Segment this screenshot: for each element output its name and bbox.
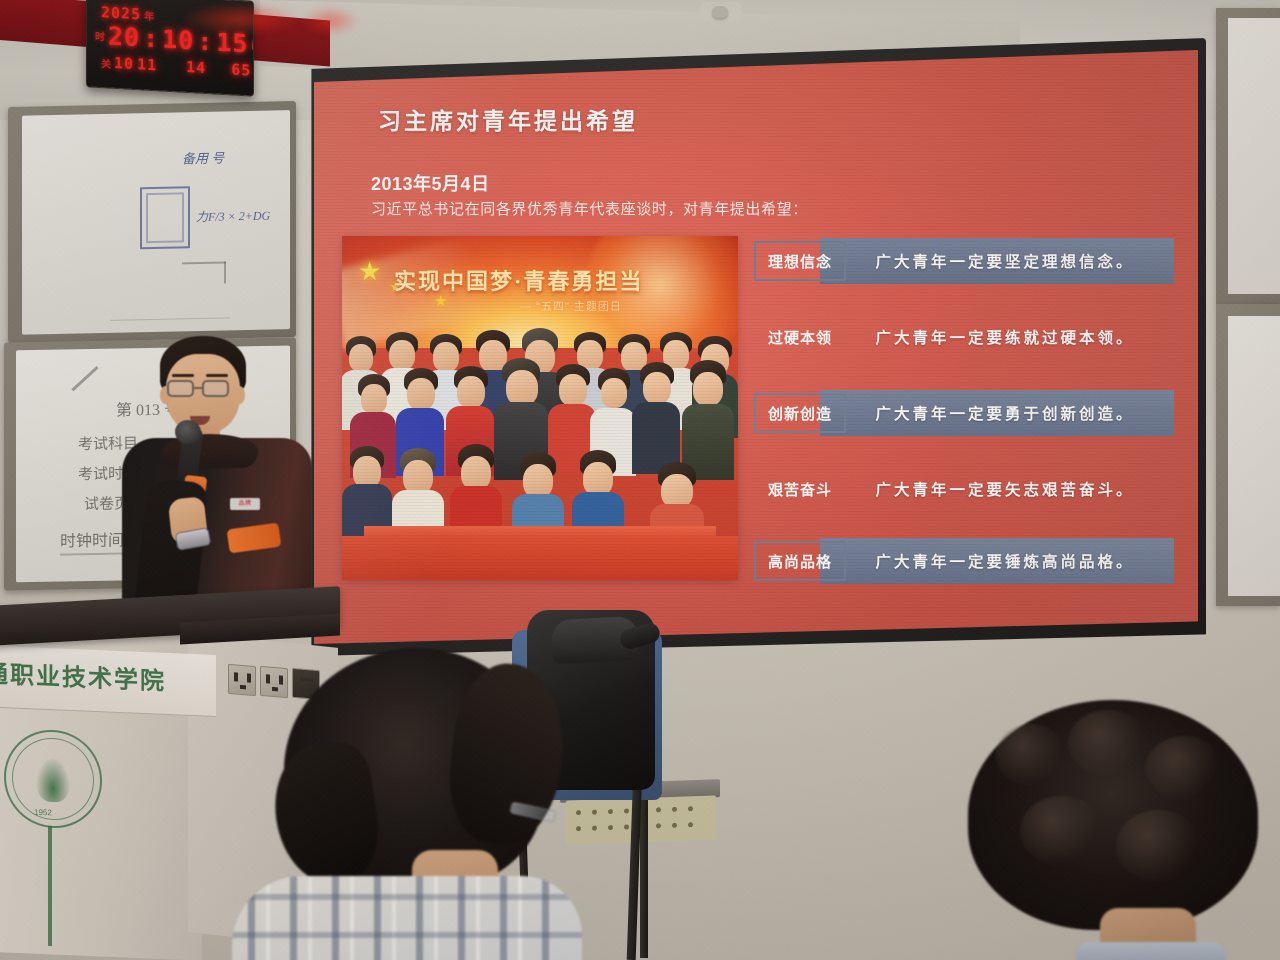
clock-hour: 20 [108, 22, 140, 53]
presenter-glasses-bridge [193, 387, 202, 389]
whiteboard-upper-frame: 备用 号 力F/3 × 2+DG [8, 101, 296, 343]
clock-glow-reflection-2 [300, 6, 360, 36]
student-foreground-right [950, 700, 1280, 960]
presenter-brow-left [172, 374, 194, 377]
presenter: 品牌 [118, 330, 318, 620]
slide-title: 习主席对青年提出希望 [378, 102, 638, 136]
classroom-scene: 备用 号 力F/3 × 2+DG 第 013 号 考试科目 考试时间 试卷页 时… [0, 0, 1280, 960]
presenter-chest-logo: 品牌 [230, 498, 260, 510]
clock-row3-c: 14 [186, 58, 206, 77]
list-item-tag: 过硬本领 [754, 317, 846, 357]
whiteboard-slash [71, 366, 98, 391]
clock-row3-a: 10 [114, 54, 134, 73]
presenter-hood [162, 434, 258, 468]
clock-year: 2025 [101, 3, 141, 23]
whiteboard-diagram-inner [146, 192, 184, 243]
student-right-curl-2 [1068, 710, 1148, 776]
student-right-collar [1076, 942, 1226, 960]
photo-star-icon-1: ★ [358, 256, 381, 287]
clock-row3-d: 65 [231, 60, 251, 79]
slide-subtitle: 习近平总书记在同各界优秀青年代表座谈时，对青年提出希望： [371, 198, 808, 219]
whiteboard-formula: 力F/3 × 2+DG [196, 207, 270, 226]
clock-glow-reflection-1 [180, 2, 300, 36]
list-item-tag: 理想信念 [754, 241, 846, 281]
list-item: 广大青年一定要练就过硬本领。 过硬本领 [754, 314, 1174, 360]
clock-right-label: 间 [251, 37, 254, 53]
photo-banner-main: 实现中国梦·青春勇担当 [394, 264, 643, 296]
presenter-glasses-left [167, 380, 194, 397]
podium-institution-name: 通职业技术学院 [0, 654, 184, 697]
whiteboard-stroke-1 [182, 261, 226, 264]
list-item: 广大青年一定要锤炼高尚品格。 高尚品格 [754, 538, 1174, 584]
photo-crowd [342, 332, 738, 542]
clock-year-unit: 年 [144, 7, 154, 23]
right-whiteboard-surface-bottom [1228, 316, 1280, 596]
led-presentation-screen[interactable]: 习主席对青年提出希望 2013年5月4日 习近平总书记在同各界优秀青年代表座谈时… [314, 50, 1198, 644]
college-seal-year: 1952 [34, 808, 52, 818]
slide-point-list: 广大青年一定要坚定理想信念。 理想信念 广大青年一定要练就过硬本领。 过硬本领 … [754, 238, 1174, 584]
student-right-curl-1 [996, 724, 1066, 786]
list-item-text: 广大青年一定要勇于创新创造。 [836, 390, 1174, 436]
whiteboard-stroke-2 [224, 261, 226, 283]
presenter-logo-text: 品牌 [230, 498, 260, 510]
whiteboard-upper-surface: 备用 号 力F/3 × 2+DG [22, 110, 290, 335]
clock-hour-label: 时 [95, 28, 105, 44]
slide-photo-collage: ★ ★ ★ 实现中国梦·青春勇担当 — "五四" 主题团日 [342, 236, 738, 580]
list-item-tag: 高尚品格 [754, 541, 846, 581]
photo-stage-front [342, 536, 738, 580]
student-right-curl-4 [1020, 796, 1102, 866]
whiteboard-line-5: 时钟时间 [60, 526, 124, 551]
student-foreground-left [262, 640, 592, 960]
list-item-text: 广大青年一定要矢志艰苦奋斗。 [836, 466, 1174, 512]
presenter-ear-right [234, 386, 245, 404]
ceiling-camera-icon [712, 6, 728, 18]
clock-row3-b: 11 [137, 55, 157, 74]
photo-banner-sub: — "五四" 主题团日 [520, 298, 622, 314]
slide-date: 2013年5月4日 [371, 170, 490, 196]
whiteboard-stroke-3 [110, 317, 230, 321]
slide-canvas: 习主席对青年提出希望 2013年5月4日 习近平总书记在同各界优秀青年代表座谈时… [314, 50, 1198, 644]
whiteboard-note-top: 备用 号 [182, 147, 224, 167]
clock-colon-1: : [143, 23, 159, 53]
power-outlet-1[interactable] [228, 664, 256, 696]
desk-leg-right [640, 800, 648, 958]
list-item: 广大青年一定要勇于创新创造。 创新创造 [754, 390, 1174, 436]
student-left-plaid-shirt [232, 876, 582, 960]
clock-row3-label: 关 [101, 55, 111, 71]
presenter-brow-right [206, 374, 228, 377]
plaid-vertical-lines [232, 876, 582, 960]
list-item-tag: 艰苦奋斗 [754, 469, 846, 509]
list-item-tag: 创新创造 [754, 393, 846, 433]
list-item-text: 广大青年一定要练就过硬本领。 [836, 314, 1174, 360]
student-right-curl-3 [1146, 736, 1222, 800]
list-item-text: 广大青年一定要坚定理想信念。 [836, 238, 1174, 284]
list-item-text: 广大青年一定要锤炼高尚品格。 [836, 538, 1174, 584]
list-item: 广大青年一定要坚定理想信念。 理想信念 [754, 238, 1174, 284]
list-item: 广大青年一定要矢志艰苦奋斗。 艰苦奋斗 [754, 466, 1174, 512]
podium-green-stem [48, 826, 52, 946]
presenter-glasses-right [202, 380, 229, 397]
right-whiteboard-surface-top [1228, 18, 1280, 294]
student-right-curl-5 [1116, 810, 1202, 882]
college-seal-leaf-icon [36, 757, 70, 802]
